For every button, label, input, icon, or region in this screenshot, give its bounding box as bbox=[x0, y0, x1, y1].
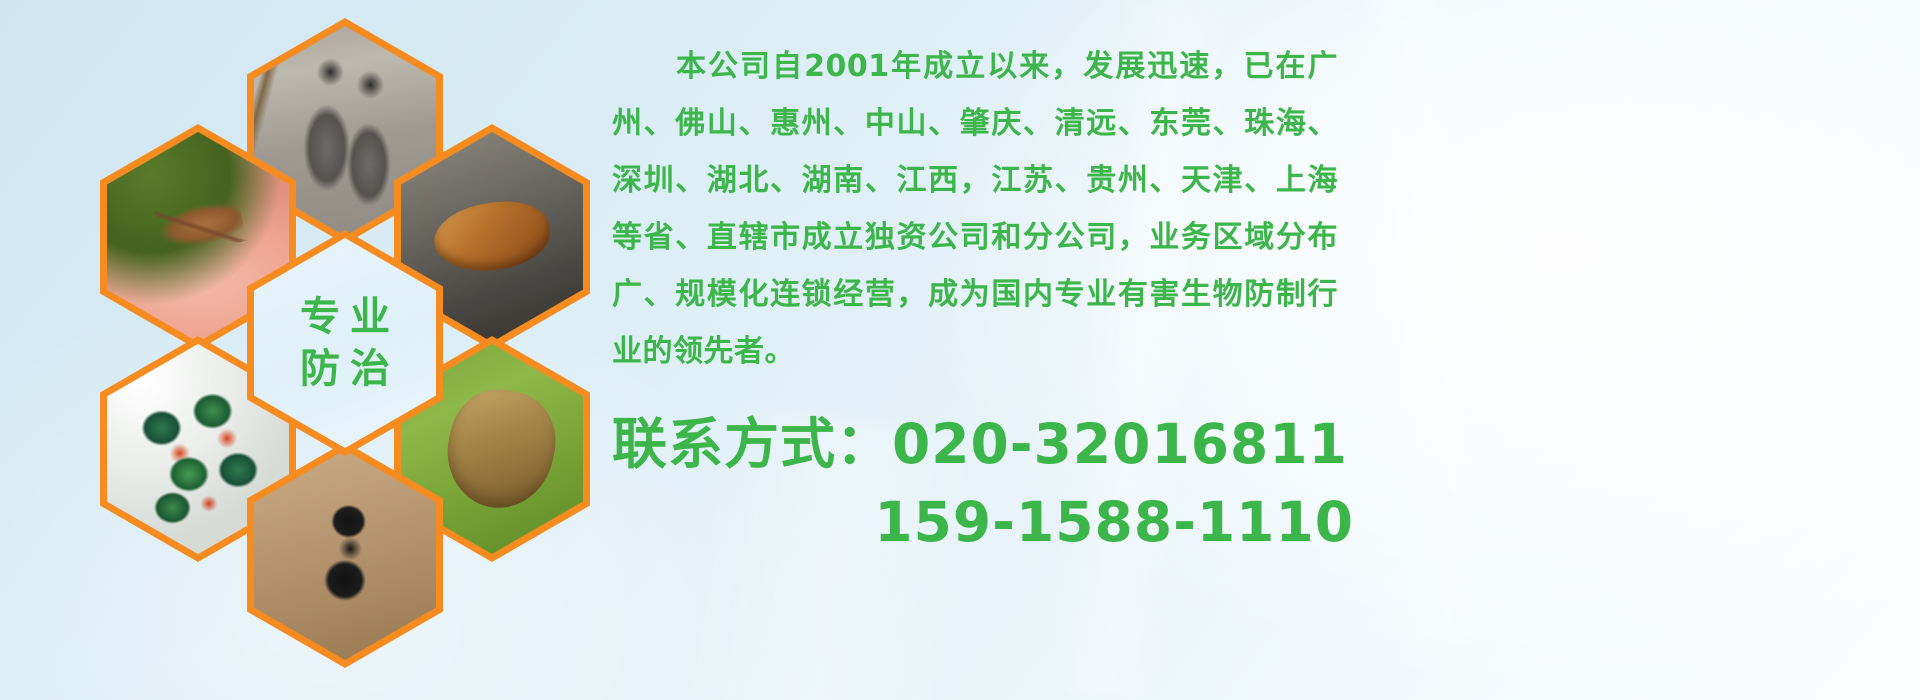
copy-column: 本公司自2001年成立以来，发展迅速，已在广州、佛山、惠州、中山、肇庆、清远、东… bbox=[612, 38, 1338, 380]
contact-phone-primary[interactable]: 联系方式：020-32016811 bbox=[612, 405, 1372, 483]
promo-banner: 专业 防治 本公司自2001年成立以来，发展迅速，已在广州、佛山、惠州、中山、肇… bbox=[0, 0, 1920, 700]
slogan-line-2: 防治 bbox=[290, 348, 400, 390]
ant-photo-icon bbox=[254, 450, 436, 660]
contact-phone-secondary[interactable]: 159-1588-1110 bbox=[612, 483, 1372, 561]
company-intro-paragraph: 本公司自2001年成立以来，发展迅速，已在广州、佛山、惠州、中山、肇庆、清远、东… bbox=[612, 38, 1338, 380]
contact-block: 联系方式：020-32016811 159-1588-1110 bbox=[612, 405, 1372, 561]
background-streak bbox=[1356, 0, 1495, 642]
honeycomb-collage: 专业 防治 bbox=[86, 0, 606, 574]
slogan-line-1: 专业 bbox=[290, 296, 400, 338]
slogan-block: 专业 防治 bbox=[254, 238, 436, 448]
